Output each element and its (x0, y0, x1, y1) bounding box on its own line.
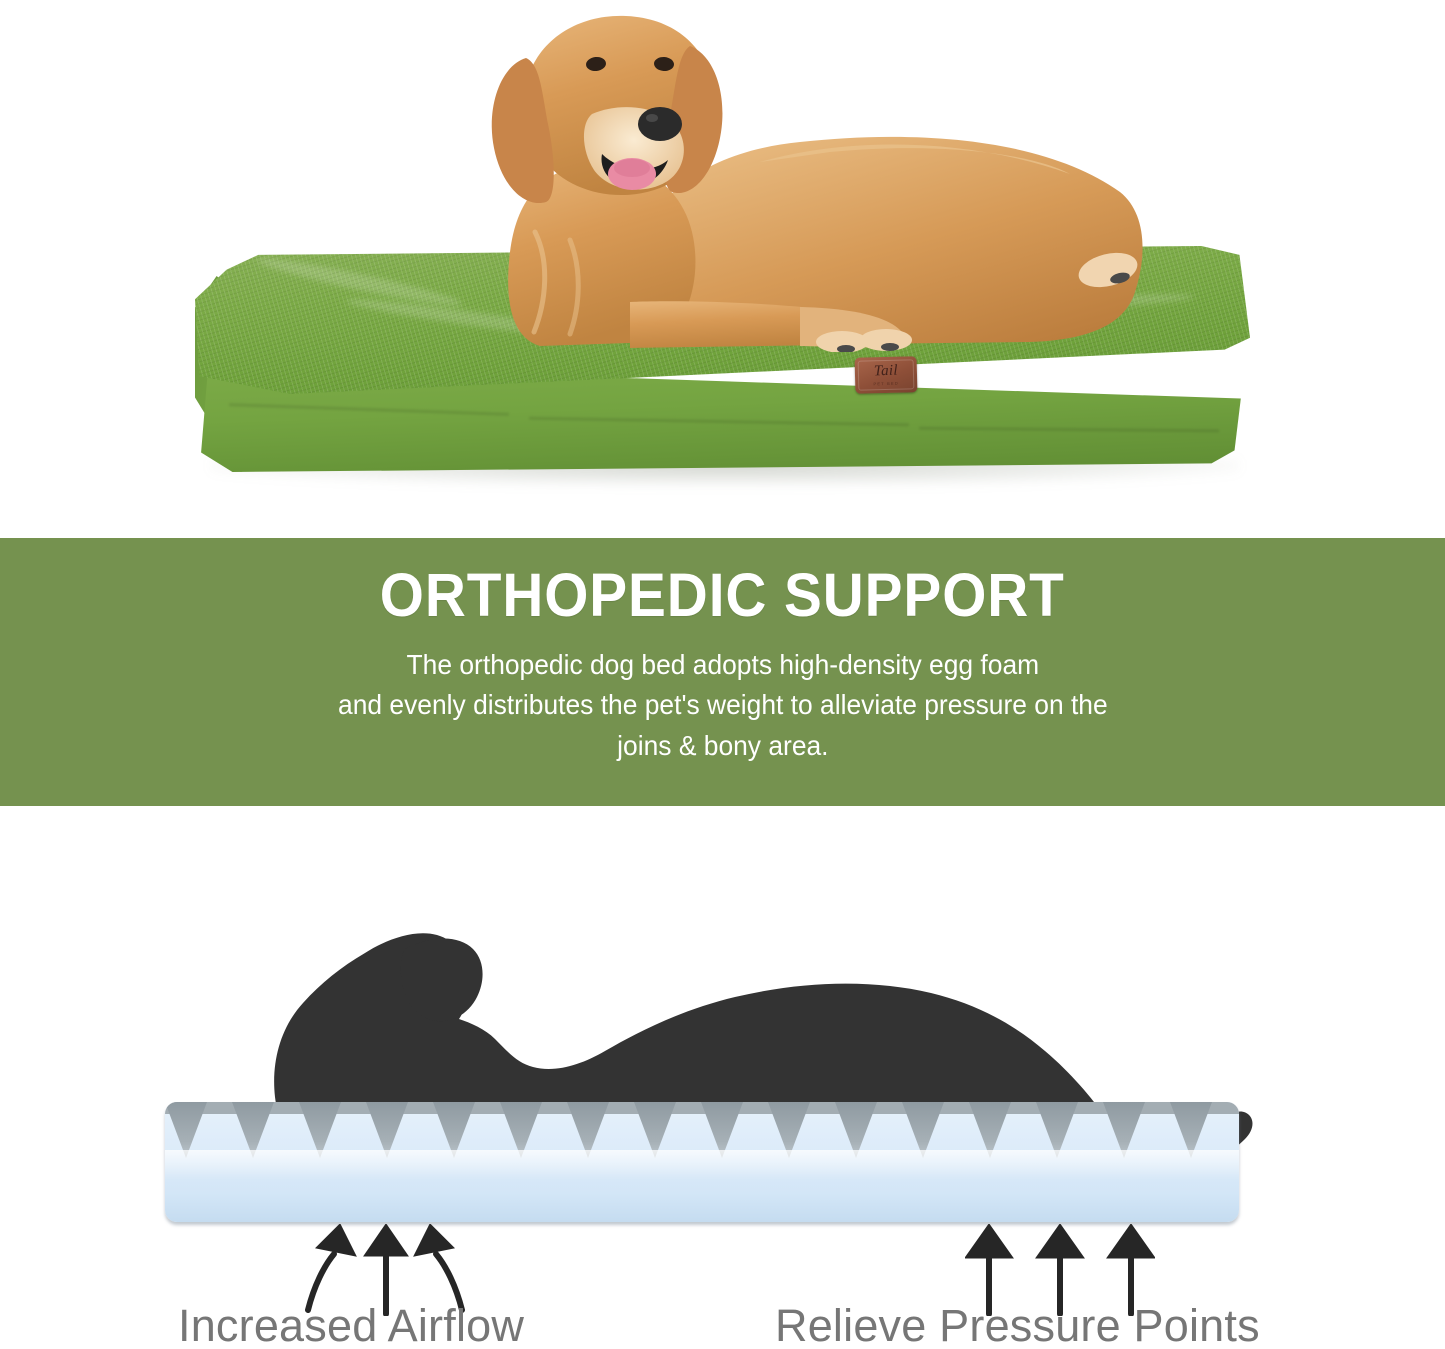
banner-title: ORTHOPEDIC SUPPORT (380, 563, 1065, 628)
foam-egg-crate-peaks (165, 1102, 1239, 1162)
banner-description-line-2: and evenly distributes the pet's weight … (338, 685, 1108, 725)
brand-tag-subtext: PET BED (873, 381, 899, 387)
brand-tag-word: Tail (874, 364, 898, 380)
egg-crate-foam-block (165, 1102, 1239, 1222)
brand-leather-tag: Tail PET BED (855, 356, 918, 394)
hero-product-photo: Tail PET BED (0, 0, 1445, 538)
label-relieve-pressure-points: Relieve Pressure Points (775, 1300, 1260, 1349)
banner-description: The orthopedic dog bed adopts high-densi… (338, 645, 1108, 766)
orthopedic-support-banner: ORTHOPEDIC SUPPORT The orthopedic dog be… (0, 538, 1445, 806)
golden-retriever-photo (330, 2, 1150, 352)
hero-stage: Tail PET BED (0, 0, 1445, 538)
label-increased-airflow: Increased Airflow (178, 1300, 524, 1349)
banner-description-line-1: The orthopedic dog bed adopts high-densi… (338, 645, 1108, 685)
product-feature-image: Tail PET BED (0, 0, 1445, 1349)
egg-crate-foam-diagram: Increased Airflow Relieve Pressure Point… (0, 806, 1445, 1349)
banner-description-line-3: joins & bony area. (338, 726, 1108, 766)
